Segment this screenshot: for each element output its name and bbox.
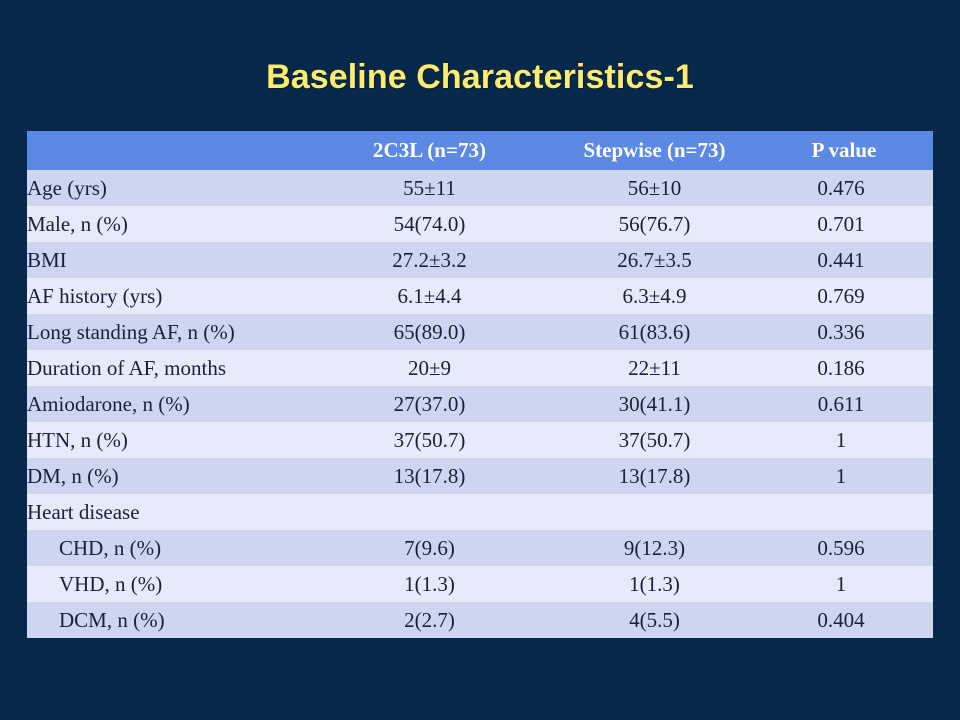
cell-p-value: 0.441 (767, 242, 933, 278)
cell-2c3l: 37(50.7) (317, 422, 542, 458)
baseline-characteristics-table-wrapper: 2C3L (n=73) Stepwise (n=73) P value Age … (27, 131, 933, 638)
table-row: DM, n (%)13(17.8)13(17.8)1 (27, 458, 933, 494)
column-header-stepwise: Stepwise (n=73) (542, 131, 767, 170)
cell-stepwise: 6.3±4.9 (542, 278, 767, 314)
cell-2c3l: 65(89.0) (317, 314, 542, 350)
table-row: Male, n (%)54(74.0)56(76.7)0.701 (27, 206, 933, 242)
cell-2c3l: 54(74.0) (317, 206, 542, 242)
table-row: Heart disease (27, 494, 933, 530)
table-header: 2C3L (n=73) Stepwise (n=73) P value (27, 131, 933, 170)
cell-2c3l (317, 494, 542, 530)
column-header-variable (27, 131, 317, 170)
row-label: BMI (27, 242, 317, 278)
cell-2c3l: 27.2±3.2 (317, 242, 542, 278)
cell-p-value (767, 494, 933, 530)
cell-p-value: 0.186 (767, 350, 933, 386)
cell-stepwise: 13(17.8) (542, 458, 767, 494)
column-header-2c3l: 2C3L (n=73) (317, 131, 542, 170)
cell-stepwise: 56(76.7) (542, 206, 767, 242)
row-label: DM, n (%) (27, 458, 317, 494)
cell-2c3l: 7(9.6) (317, 530, 542, 566)
cell-p-value: 0.404 (767, 602, 933, 638)
cell-2c3l: 2(2.7) (317, 602, 542, 638)
cell-stepwise (542, 494, 767, 530)
cell-p-value: 0.596 (767, 530, 933, 566)
row-label: Duration of AF, months (27, 350, 317, 386)
cell-p-value: 0.611 (767, 386, 933, 422)
cell-2c3l: 27(37.0) (317, 386, 542, 422)
cell-stepwise: 4(5.5) (542, 602, 767, 638)
table-row: Age (yrs)55±1156±100.476 (27, 170, 933, 206)
cell-stepwise: 22±11 (542, 350, 767, 386)
cell-stepwise: 9(12.3) (542, 530, 767, 566)
row-label: CHD, n (%) (27, 530, 317, 566)
cell-p-value: 1 (767, 458, 933, 494)
table-row: Duration of AF, months20±922±110.186 (27, 350, 933, 386)
table-row: VHD, n (%)1(1.3)1(1.3)1 (27, 566, 933, 602)
table-row: DCM, n (%)2(2.7)4(5.5)0.404 (27, 602, 933, 638)
table-row: AF history (yrs)6.1±4.46.3±4.90.769 (27, 278, 933, 314)
table-header-row: 2C3L (n=73) Stepwise (n=73) P value (27, 131, 933, 170)
page-title: Baseline Characteristics-1 (0, 58, 960, 97)
cell-stepwise: 61(83.6) (542, 314, 767, 350)
cell-stepwise: 37(50.7) (542, 422, 767, 458)
cell-p-value: 1 (767, 566, 933, 602)
table-row: CHD, n (%)7(9.6)9(12.3)0.596 (27, 530, 933, 566)
cell-p-value: 0.336 (767, 314, 933, 350)
table-row: HTN, n (%)37(50.7)37(50.7)1 (27, 422, 933, 458)
row-label: Amiodarone, n (%) (27, 386, 317, 422)
cell-stepwise: 1(1.3) (542, 566, 767, 602)
row-label: Long standing AF, n (%) (27, 314, 317, 350)
row-label: HTN, n (%) (27, 422, 317, 458)
table-row: Amiodarone, n (%)27(37.0)30(41.1)0.611 (27, 386, 933, 422)
cell-2c3l: 20±9 (317, 350, 542, 386)
cell-stepwise: 26.7±3.5 (542, 242, 767, 278)
cell-2c3l: 13(17.8) (317, 458, 542, 494)
cell-p-value: 0.476 (767, 170, 933, 206)
row-label: DCM, n (%) (27, 602, 317, 638)
cell-2c3l: 6.1±4.4 (317, 278, 542, 314)
table-row: Long standing AF, n (%)65(89.0)61(83.6)0… (27, 314, 933, 350)
cell-p-value: 0.769 (767, 278, 933, 314)
cell-2c3l: 55±11 (317, 170, 542, 206)
cell-2c3l: 1(1.3) (317, 566, 542, 602)
cell-p-value: 1 (767, 422, 933, 458)
cell-stepwise: 30(41.1) (542, 386, 767, 422)
table-row: BMI27.2±3.226.7±3.50.441 (27, 242, 933, 278)
cell-p-value: 0.701 (767, 206, 933, 242)
table-body: Age (yrs)55±1156±100.476Male, n (%)54(74… (27, 170, 933, 638)
column-header-p-value: P value (767, 131, 933, 170)
cell-stepwise: 56±10 (542, 170, 767, 206)
row-label: Male, n (%) (27, 206, 317, 242)
baseline-characteristics-table: 2C3L (n=73) Stepwise (n=73) P value Age … (27, 131, 933, 638)
slide-canvas: Baseline Characteristics-1 2C3L (n=73) S… (0, 0, 960, 720)
row-label: AF history (yrs) (27, 278, 317, 314)
row-label: VHD, n (%) (27, 566, 317, 602)
row-label: Heart disease (27, 494, 317, 530)
row-label: Age (yrs) (27, 170, 317, 206)
